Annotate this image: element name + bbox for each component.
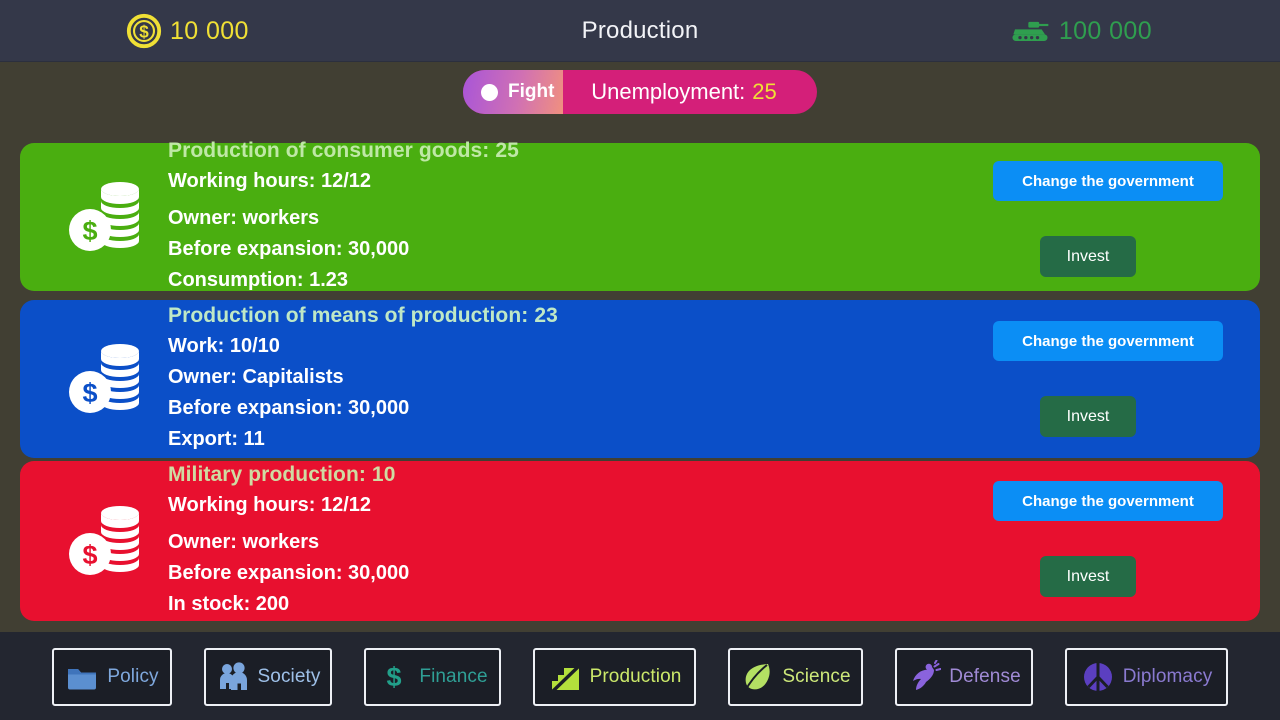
card-line: Export: 11 [168, 424, 940, 454]
nav-item-science[interactable]: Science [728, 648, 863, 706]
card-line: Before expansion: 30,000 [168, 393, 940, 423]
card-text-block: Production of consumer goods: 25 Working… [168, 143, 940, 291]
military-amount: 100 000 [1059, 17, 1152, 46]
card-line: Before expansion: 30,000 [168, 234, 940, 264]
unemployment-value: 25 [752, 79, 776, 105]
nav-item-finance[interactable]: $ Finance [364, 648, 501, 706]
peace-icon [1081, 660, 1115, 694]
nav-label: Finance [419, 666, 487, 688]
coin-stack-icon: $ [68, 501, 146, 581]
fight-button[interactable]: Fight [463, 70, 563, 114]
card-text-block: Military production: 10 Working hours: 1… [168, 461, 940, 621]
factory-chart-icon [548, 660, 582, 694]
change-government-button[interactable]: Change the government [993, 161, 1223, 201]
nav-item-diplomacy[interactable]: Diplomacy [1065, 648, 1228, 706]
card-line: Owner: workers [168, 203, 940, 233]
unemployment-indicator: Unemployment: 25 [563, 70, 817, 114]
top-bar: $ 10 000 Production 100 000 [0, 0, 1280, 62]
card-line: Working hours: 12/12 [168, 490, 940, 520]
leaf-icon [740, 660, 774, 694]
nav-label: Production [590, 666, 682, 688]
circle-dot-icon [481, 84, 498, 101]
nav-item-society[interactable]: Society [204, 648, 332, 706]
nav-label: Society [258, 666, 321, 688]
card-line: In stock: 200 [168, 589, 940, 619]
svg-text:$: $ [82, 216, 97, 246]
card-line: Work: 10/10 [168, 331, 940, 361]
military-indicator: 100 000 [1010, 0, 1152, 62]
nav-item-defense[interactable]: Defense [895, 648, 1033, 706]
unemployment-label: Unemployment: [591, 79, 745, 105]
card-title: Military production: 10 [168, 463, 940, 487]
coin-stack-icon: $ [68, 339, 146, 419]
nav-label: Defense [949, 666, 1020, 688]
card-line: Working hours: 12/12 [168, 166, 940, 196]
invest-button[interactable]: Invest [1040, 396, 1136, 437]
card-title: Production of means of production: 23 [168, 304, 940, 328]
nav-item-policy[interactable]: Policy [52, 648, 172, 706]
invest-button[interactable]: Invest [1040, 556, 1136, 597]
card-title: Production of consumer goods: 25 [168, 139, 940, 163]
svg-text:$: $ [82, 378, 97, 408]
fight-label: Fight [508, 81, 554, 103]
people-icon [216, 660, 250, 694]
nav-label: Policy [107, 666, 158, 688]
tank-icon [1010, 17, 1050, 45]
card-line: Consumption: 1.23 [168, 265, 940, 295]
card-text-block: Production of means of production: 23 Wo… [168, 300, 940, 458]
dove-icon [907, 660, 941, 694]
nav-item-production[interactable]: Production [533, 648, 696, 706]
svg-text:$: $ [82, 540, 97, 570]
invest-button[interactable]: Invest [1040, 236, 1136, 277]
nav-label: Science [782, 666, 850, 688]
status-bar: Fight Unemployment: 25 [463, 70, 817, 114]
card-line: Owner: workers [168, 527, 940, 557]
coin-stack-icon: $ [68, 177, 146, 257]
folder-icon [65, 660, 99, 694]
svg-text:$: $ [387, 662, 402, 692]
change-government-button[interactable]: Change the government [993, 321, 1223, 361]
dollar-icon: $ [377, 660, 411, 694]
card-line: Before expansion: 30,000 [168, 558, 940, 588]
card-line: Owner: Capitalists [168, 362, 940, 392]
nav-label: Diplomacy [1123, 666, 1213, 688]
change-government-button[interactable]: Change the government [993, 481, 1223, 521]
